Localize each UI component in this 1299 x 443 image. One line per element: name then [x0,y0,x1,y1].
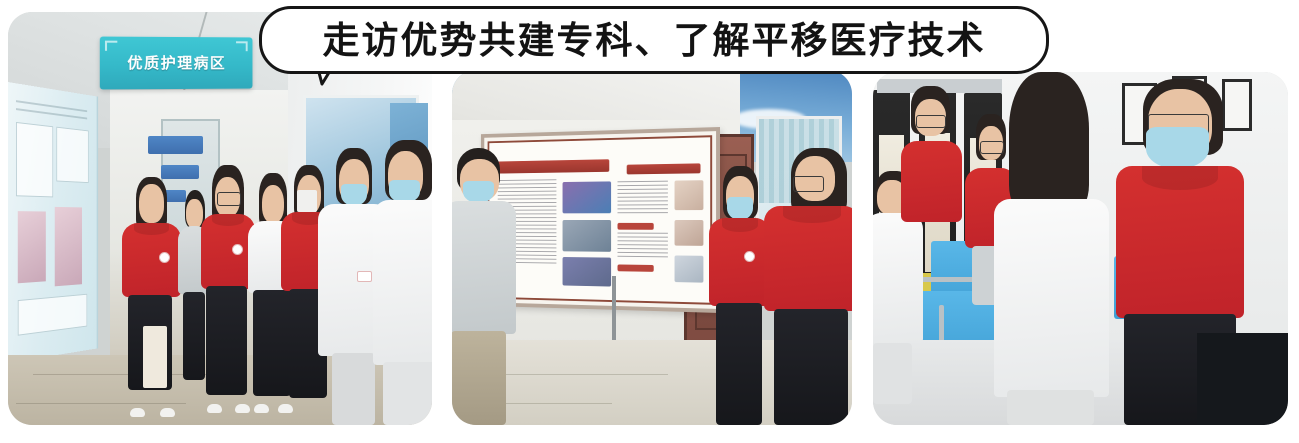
board-text-block-2 [57,127,89,183]
red-polo-shirt [709,218,770,306]
collar [783,206,841,223]
dark-skirt [774,309,849,425]
collar [134,223,169,235]
face [139,184,163,222]
foreground-shadow [1197,333,1288,425]
eyeglasses [916,115,946,128]
board-photo-1 [18,212,46,284]
sign-corner-bracket-left [105,40,117,50]
ward-sign-board: 优质护理病区 [100,36,252,89]
board-photo-2 [55,207,82,287]
collar [722,218,759,232]
red-polo-shirt [764,206,852,311]
coat-hem [332,353,375,425]
caption-text: 走访优势共建专科、了解平移医疗技术 [323,22,986,59]
light-coat [452,201,516,334]
person-demonstrator-back [989,72,1114,425]
person-doctor-coat-b [373,140,432,425]
uniform-badge [232,244,243,255]
hair [1009,72,1089,213]
tote-bag [143,326,167,388]
face-mask [727,197,753,220]
red-polo-shirt [901,141,962,222]
shoe-left [254,404,269,413]
collar [212,214,244,226]
panel-2-scene [452,70,852,425]
person-nurse-front [118,177,186,417]
red-polo-shirt [122,223,180,297]
dark-trousers [716,303,762,425]
eyeglasses [217,192,240,206]
panel-3-scene [873,72,1288,425]
poster-subheader-1 [618,223,654,230]
coat-hem [383,362,432,425]
photo-panel-poster-briefing [452,70,852,425]
coat-hem [873,343,912,404]
poster-photo-4 [675,180,703,210]
uniform-badge [159,252,170,263]
ward-sign-text: 优质护理病区 [128,52,227,73]
smartphone [297,190,317,212]
dark-trousers [206,286,248,395]
direction-sign-nurse-station [148,136,203,155]
collar [1142,166,1218,190]
poster-photo-5 [675,220,703,246]
white-top [994,199,1109,397]
poster-photo-2 [563,220,611,252]
poster-photo-1 [563,181,611,213]
person-presenter [452,148,516,425]
uniform-badge [744,251,755,262]
board-text-block-1 [16,122,53,197]
shoe-left [130,408,145,417]
poster-photo-6 [675,255,703,282]
shoe-right [160,408,175,417]
white-lab-coat [373,200,432,365]
board-text-block-3 [18,294,87,336]
red-polo-shirt [1116,166,1243,318]
person-observer-smiling [898,86,964,270]
person-visitor-front [708,166,772,425]
rolling-poster-board [481,127,720,313]
trousers [452,331,506,425]
poster-subheader-2 [618,264,654,271]
person-visitor-back [764,148,852,425]
face-mask [1146,127,1210,169]
shoe-left [207,404,222,413]
photo-panel-skills-demo [873,72,1288,425]
hem [1007,390,1094,425]
id-badge [357,271,372,282]
photo-collage-banner: 优质护理病区 [0,0,1299,443]
information-board [8,82,98,363]
poster-header-bar-right [627,164,701,175]
poster-surface [488,135,713,304]
poster-photo-3 [563,257,611,286]
eyeglasses [793,176,824,192]
sign-corner-bracket-right [236,41,248,51]
caption-speech-bubble: 走访优势共建专科、了解平移医疗技术 [259,6,1049,74]
